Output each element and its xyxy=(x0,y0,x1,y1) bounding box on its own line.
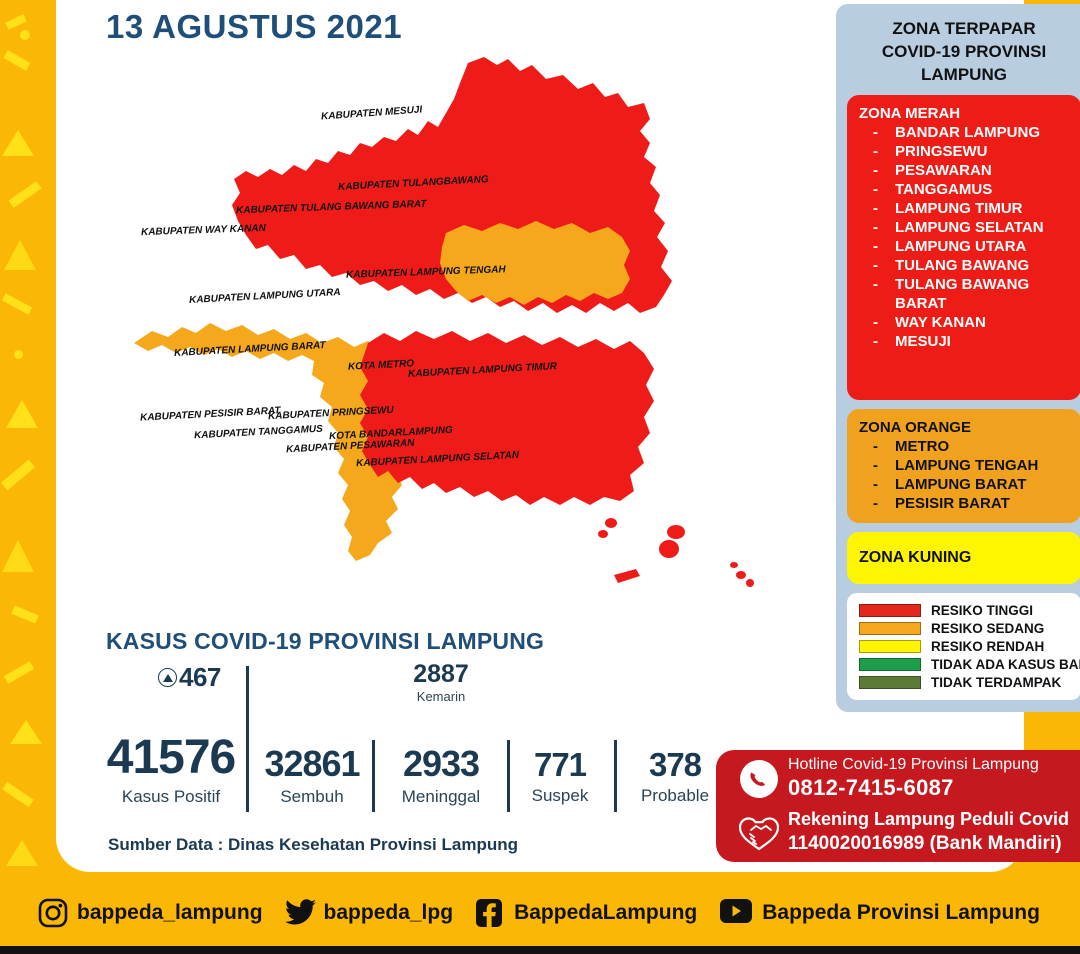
zone-red-item: WAY KANAN xyxy=(859,313,1069,332)
zone-red-item: PESAWARAN xyxy=(859,161,1069,180)
stat-label: Kasus Positif xyxy=(98,787,244,807)
legend-swatch-high xyxy=(859,604,921,617)
legend-row: RESIKO TINGGI xyxy=(859,603,1069,618)
delta-triangle-icon xyxy=(158,668,177,687)
hotline-label: Hotline Covid-19 Provinsi Lampung xyxy=(788,756,1080,774)
legend-label: RESIKO SEDANG xyxy=(931,621,1044,636)
social-handle: BappedaLampung xyxy=(514,901,697,925)
map-island xyxy=(614,569,640,583)
zone-red-item-continuation: BARAT xyxy=(859,294,1069,313)
legend-swatch-no-new-cases xyxy=(859,658,921,671)
instagram-icon xyxy=(38,898,68,928)
social-instagram[interactable]: bappeda_lampung xyxy=(38,898,263,928)
phone-icon xyxy=(730,752,788,806)
zone-heading-line: COVID-19 PROVINSI xyxy=(847,41,1080,64)
bottom-rule xyxy=(0,946,1080,954)
zone-heading-line: LAMPUNG xyxy=(847,64,1080,87)
zone-red-title: ZONA MERAH xyxy=(859,105,1069,122)
social-youtube[interactable]: Bappeda Provinsi Lampung xyxy=(719,898,1040,928)
donation-account[interactable]: 1140020016989 (Bank Mandiri) xyxy=(788,832,1080,857)
stat-value: 32861 xyxy=(252,746,372,782)
legend-label: RESIKO RENDAH xyxy=(931,639,1044,654)
zone-orange-item: PESISIR BARAT xyxy=(859,494,1069,513)
legend-row: RESIKO RENDAH xyxy=(859,639,1069,654)
legend-row: RESIKO SEDANG xyxy=(859,621,1069,636)
stat-sembuh: 32861 Sembuh xyxy=(252,746,372,807)
legend-swatch-unaffected xyxy=(859,676,921,689)
zone-red-box: ZONA MERAH BANDAR LAMPUNG PRINGSEWU PESA… xyxy=(847,95,1080,400)
map-island xyxy=(730,562,738,568)
stat-suspek: 771 Suspek xyxy=(510,748,610,806)
zone-red-item: LAMPUNG UTARA xyxy=(859,237,1069,256)
stat-value: 378 xyxy=(620,748,730,781)
map-svg xyxy=(116,45,806,610)
stat-value: 771 xyxy=(510,748,610,781)
map-island xyxy=(598,530,608,538)
zone-red-item: BANDAR LAMPUNG xyxy=(859,123,1069,142)
legend-label: TIDAK ADA KASUS BARU xyxy=(931,657,1080,672)
zone-yellow-box: ZONA KUNING xyxy=(847,532,1080,584)
map-island xyxy=(736,571,746,579)
legend-row: TIDAK TERDAMPAK xyxy=(859,675,1069,690)
stat-label: Sembuh xyxy=(252,787,372,807)
yesterday-label: Kemarin xyxy=(386,689,496,704)
stat-divider xyxy=(246,666,249,812)
zone-heading-line: ZONA TERPAPAR xyxy=(847,18,1080,41)
stat-label: Meninggal xyxy=(380,787,502,807)
zone-red-item: MESUJI xyxy=(859,332,1069,351)
stats-heading: KASUS COVID-19 PROVINSI LAMPUNG xyxy=(106,628,544,655)
content-card: 13 AGUSTUS 2021 KABUPATEN MESUJI xyxy=(56,0,1024,872)
zone-panel: ZONA TERPAPAR COVID-19 PROVINSI LAMPUNG … xyxy=(836,4,1080,712)
map-island xyxy=(746,579,754,587)
youtube-icon xyxy=(719,898,753,928)
zone-panel-heading: ZONA TERPAPAR COVID-19 PROVINSI LAMPUNG xyxy=(847,14,1080,95)
zone-red-list: BANDAR LAMPUNG PRINGSEWU PESAWARAN TANGG… xyxy=(859,123,1069,352)
social-handle: bappeda_lampung xyxy=(77,901,263,925)
stat-label: Probable xyxy=(620,786,730,806)
stat-value: 41576 xyxy=(98,734,244,782)
stat-probable: 378 Probable xyxy=(620,748,730,806)
zone-orange-list: METRO LAMPUNG TENGAH LAMPUNG BARAT PESIS… xyxy=(859,437,1069,513)
hotline-icons xyxy=(730,752,788,860)
map-island xyxy=(667,525,685,539)
map-island xyxy=(605,518,617,528)
donation-label: Rekening Lampung Peduli Covid xyxy=(788,808,1080,831)
delta-value: 467 xyxy=(179,662,221,693)
zone-red-item: TULANG BAWANG xyxy=(859,256,1069,275)
map-region-south-red xyxy=(360,331,654,505)
stat-value: 2933 xyxy=(380,746,502,782)
legend-row: TIDAK ADA KASUS BARU xyxy=(859,657,1069,672)
legend-swatch-low xyxy=(859,640,921,653)
stat-divider xyxy=(372,740,375,812)
social-facebook[interactable]: BappedaLampung xyxy=(475,898,697,928)
stat-kasus-positif: 41576 Kasus Positif xyxy=(98,734,244,807)
zone-red-item: TANGGAMUS xyxy=(859,180,1069,199)
map-region-lampung-tengah-orange xyxy=(440,221,630,305)
zone-red-item: LAMPUNG SELATAN xyxy=(859,218,1069,237)
risk-legend: RESIKO TINGGI RESIKO SEDANG RESIKO RENDA… xyxy=(847,593,1080,700)
twitter-icon xyxy=(285,898,315,928)
stat-divider xyxy=(614,740,617,812)
facebook-icon xyxy=(475,898,505,928)
page-title: 13 AGUSTUS 2021 xyxy=(106,8,402,46)
hotline-text: Hotline Covid-19 Provinsi Lampung 0812-7… xyxy=(788,756,1080,857)
zone-red-item: LAMPUNG TIMUR xyxy=(859,199,1069,218)
zone-orange-item: LAMPUNG BARAT xyxy=(859,475,1069,494)
zone-yellow-title: ZONA KUNING xyxy=(859,549,1069,567)
zone-orange-item: METRO xyxy=(859,437,1069,456)
hotline-number[interactable]: 0812-7415-6087 xyxy=(788,774,1080,802)
social-handle: bappeda_lpg xyxy=(324,901,454,925)
hotline-box[interactable]: Hotline Covid-19 Provinsi Lampung 0812-7… xyxy=(716,750,1080,862)
social-footer: bappeda_lampung bappeda_lpg BappedaLampu… xyxy=(0,880,1080,946)
stats-row: 467 2887 Kemarin 41576 Kasus Positif 328… xyxy=(98,662,718,812)
yesterday-value: 2887 xyxy=(386,662,496,687)
map-island xyxy=(659,540,679,558)
zone-orange-title: ZONA ORANGE xyxy=(859,419,1069,436)
zone-red-item: TULANG BAWANG xyxy=(859,275,1069,294)
legend-label: RESIKO TINGGI xyxy=(931,603,1033,618)
lampung-zone-map: KABUPATEN MESUJIKABUPATEN TULANGBAWANGKA… xyxy=(116,45,806,610)
legend-swatch-medium xyxy=(859,622,921,635)
source-note: Sumber Data : Dinas Kesehatan Provinsi L… xyxy=(108,835,518,855)
social-handle: Bappeda Provinsi Lampung xyxy=(762,901,1040,925)
zone-orange-box: ZONA ORANGE METRO LAMPUNG TENGAH LAMPUNG… xyxy=(847,409,1080,523)
stat-meninggal: 2933 Meninggal xyxy=(380,746,502,807)
handshake-heart-icon xyxy=(730,806,788,860)
social-twitter[interactable]: bappeda_lpg xyxy=(285,898,454,928)
zone-red-item: PRINGSEWU xyxy=(859,142,1069,161)
stat-label: Suspek xyxy=(510,786,610,806)
legend-label: TIDAK TERDAMPAK xyxy=(931,675,1061,690)
yesterday-stat: 2887 Kemarin xyxy=(386,662,496,704)
zone-orange-item: LAMPUNG TENGAH xyxy=(859,456,1069,475)
new-cases-delta: 467 xyxy=(158,662,221,693)
